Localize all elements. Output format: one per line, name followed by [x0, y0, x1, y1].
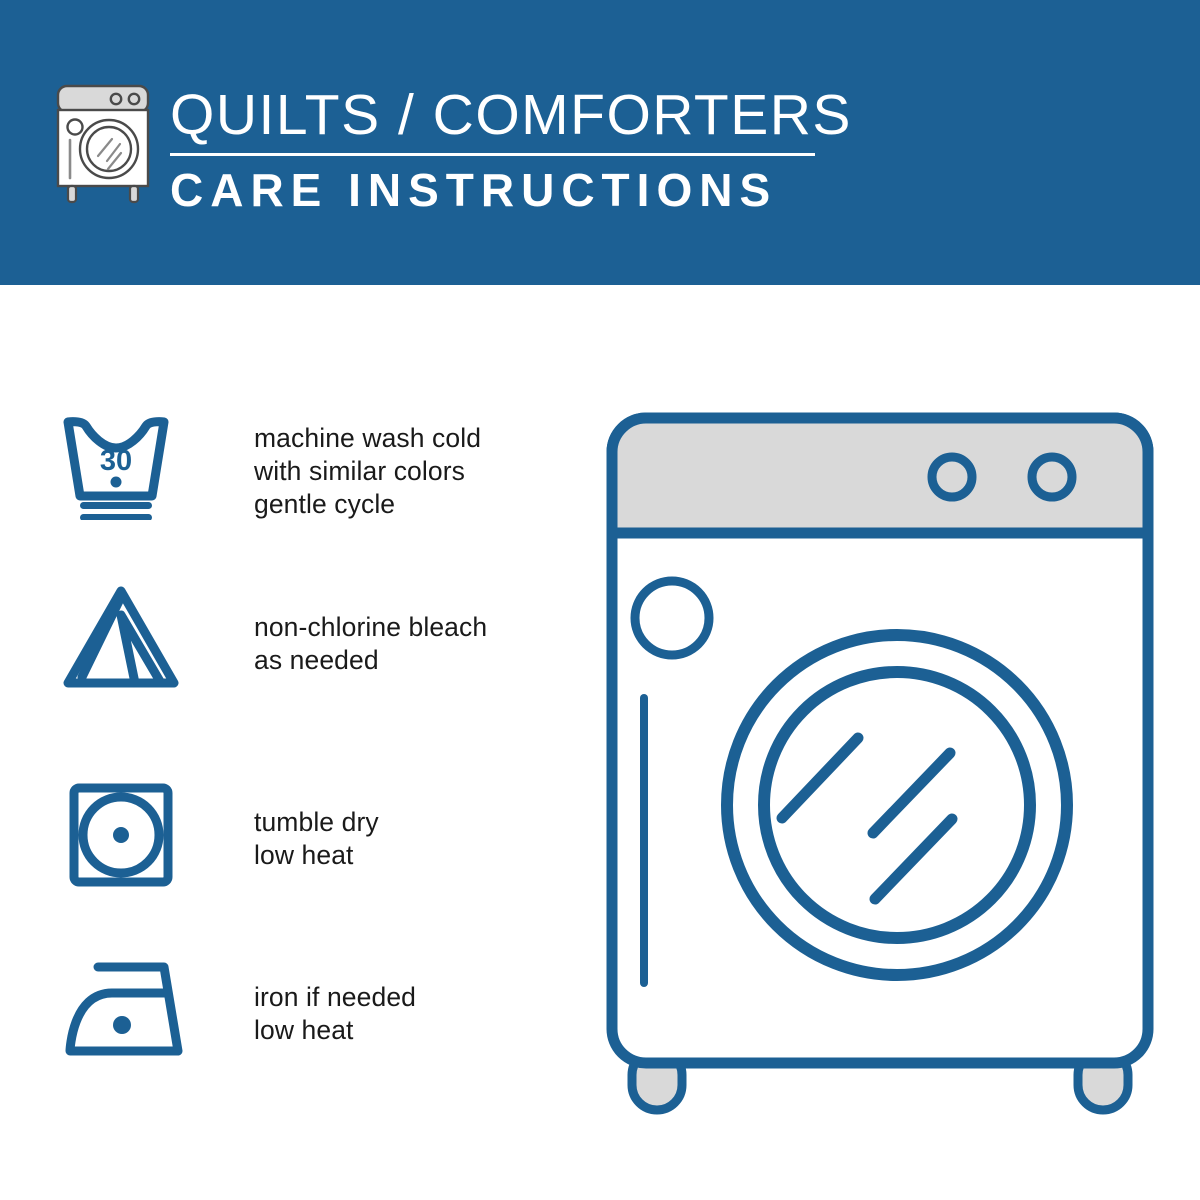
wash-temperature-label: 30 [100, 445, 132, 477]
care-line: low heat [254, 839, 379, 872]
header-title-block: QUILTS / COMFORTERS CARE INSTRUCTIONS [170, 83, 820, 216]
care-line: machine wash cold [254, 422, 481, 455]
care-line: with similar colors [254, 455, 481, 488]
non-chlorine-bleach-triangle-icon [60, 585, 190, 695]
care-line: tumble dry [254, 806, 379, 839]
washing-machine-illustration [600, 405, 1160, 1125]
title-divider [170, 153, 815, 156]
page-title: QUILTS / COMFORTERS [170, 83, 820, 147]
care-item-bleach-text: non-chlorine bleach as needed [254, 611, 487, 677]
tumble-dry-low-heat-icon [60, 780, 190, 890]
care-line: gentle cycle [254, 488, 481, 521]
care-line: as needed [254, 644, 487, 677]
care-item-dry-text: tumble dry low heat [254, 806, 379, 872]
iron-low-heat-icon [60, 955, 190, 1065]
care-item-iron-text: iron if needed low heat [254, 981, 416, 1047]
care-line: iron if needed [254, 981, 416, 1014]
page-subtitle: CARE INSTRUCTIONS [170, 164, 820, 216]
page-header: QUILTS / COMFORTERS CARE INSTRUCTIONS [0, 0, 1200, 285]
care-item-wash-text: machine wash cold with similar colors ge… [254, 422, 481, 521]
wash-tub-30-gentle-icon: 30 [60, 410, 190, 520]
washing-machine-icon [52, 82, 160, 210]
care-line: non-chlorine bleach [254, 611, 487, 644]
care-line: low heat [254, 1014, 416, 1047]
